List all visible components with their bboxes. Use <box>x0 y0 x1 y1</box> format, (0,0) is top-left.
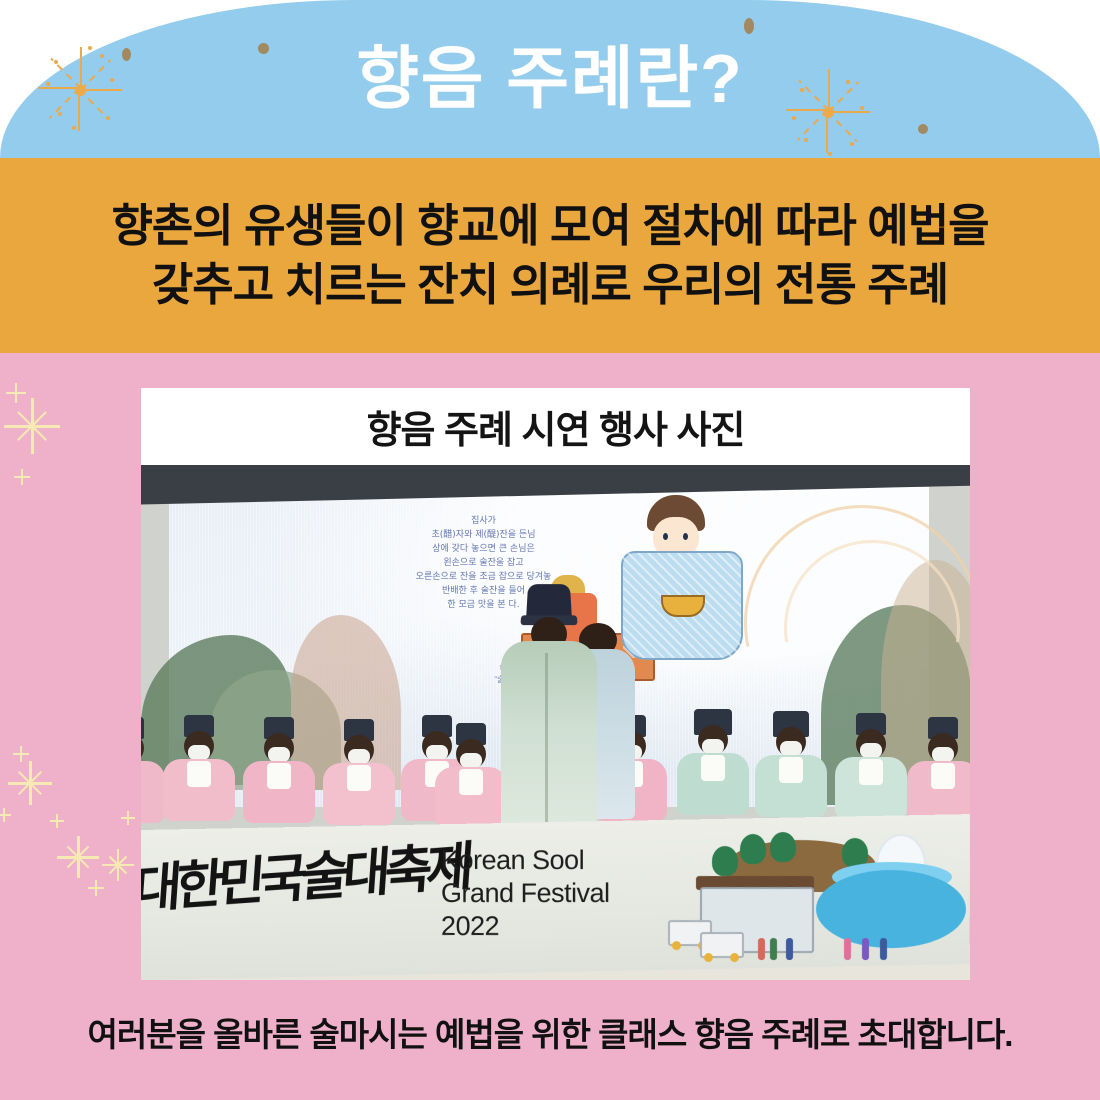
banner-year: 2022 <box>441 910 610 943</box>
photo-card: 향음 주례 시연 행사 사진 집사가 초(醋)자와 제(醍)잔을 든님 상에 갖… <box>141 388 970 980</box>
promo-card: 향음 주례란? 향촌의 유생들이 향교에 모여 절차에 따라 예법을 갖추고 치… <box>0 0 1100 1100</box>
description-band: 향촌의 유생들이 향교에 모여 절차에 따라 예법을 갖추고 치르는 잔치 의례… <box>0 158 1100 353</box>
page-title: 향음 주례란? <box>0 0 1100 158</box>
festival-banner: 대한민국술대축제 Korean Sool Grand Festival 2022 <box>141 814 970 980</box>
banner-english-text: Korean Sool Grand Festival 2022 <box>441 844 610 943</box>
description-line-2: 갖추고 치르는 잔치 의례로 우리의 전통 주례 <box>152 256 948 315</box>
description-line-1: 향촌의 유생들이 향교에 모여 절차에 따라 예법을 <box>111 197 988 256</box>
banner-line-2: Grand Festival <box>441 877 610 910</box>
banner-calligraphy: 대한민국술대축제 <box>141 828 407 958</box>
banner-line-1: Korean Sool <box>441 844 610 877</box>
banner-village-illustration <box>666 832 966 962</box>
footer-invitation-text: 여러분을 올바른 술마시는 예법을 위한 클래스 향음 주례로 초대합니다. <box>0 1008 1100 1056</box>
header-section: 향음 주례란? <box>0 0 1100 158</box>
event-photo: 집사가 초(醋)자와 제(醍)잔을 든님 상에 갖다 놓으면 큰 손님은 왼손으… <box>141 465 970 980</box>
photo-caption: 향음 주례 시연 행사 사진 <box>141 388 970 465</box>
master-of-ceremony-figure <box>501 583 597 853</box>
body-section: 향음 주례 시연 행사 사진 집사가 초(醋)자와 제(醍)잔을 든님 상에 갖… <box>0 353 1100 1100</box>
